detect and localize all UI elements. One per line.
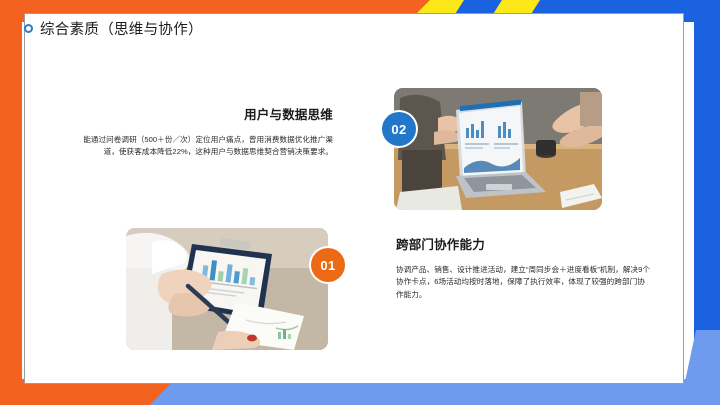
block-body-cross-department-collaboration: 协调产品、销售、设计推进活动，建立“周同步会＋进度看板”机制，解决9个协作卡点，…: [396, 264, 652, 301]
page-title: 综合素质（思维与协作）: [24, 18, 203, 39]
decor-orange-left-band: [0, 0, 22, 405]
laptop-dashboard-illustration: [394, 88, 602, 210]
clipboard-report-photo: [126, 228, 328, 350]
block-heading-cross-department-collaboration: 跨部门协作能力: [396, 234, 652, 253]
laptop-dashboard-photo: [394, 88, 602, 210]
clipboard-report-illustration: [126, 228, 328, 350]
block-heading-user-data-thinking: 用户与数据思维: [78, 104, 333, 123]
decor-lightblue-corner: [680, 330, 720, 405]
block-cross-department-collaboration: 跨部门协作能力 协调产品、销售、设计推进活动，建立“周同步会＋进度看板”机制，解…: [396, 234, 652, 301]
block-body-user-data-thinking: 能通过问卷调研（500＋份／次）定位用户痛点，曾用消费数据优化推广渠道，使获客成…: [78, 134, 333, 159]
badge-number-01: 01: [311, 248, 345, 282]
circle-outline-icon: [24, 24, 33, 33]
slide-canvas: 综合素质（思维与协作）: [0, 0, 720, 405]
page-title-text: 综合素质（思维与协作）: [40, 18, 203, 39]
badge-number-02: 02: [382, 112, 416, 146]
block-user-data-thinking: 用户与数据思维 能通过问卷调研（500＋份／次）定位用户痛点，曾用消费数据优化推…: [78, 104, 333, 159]
